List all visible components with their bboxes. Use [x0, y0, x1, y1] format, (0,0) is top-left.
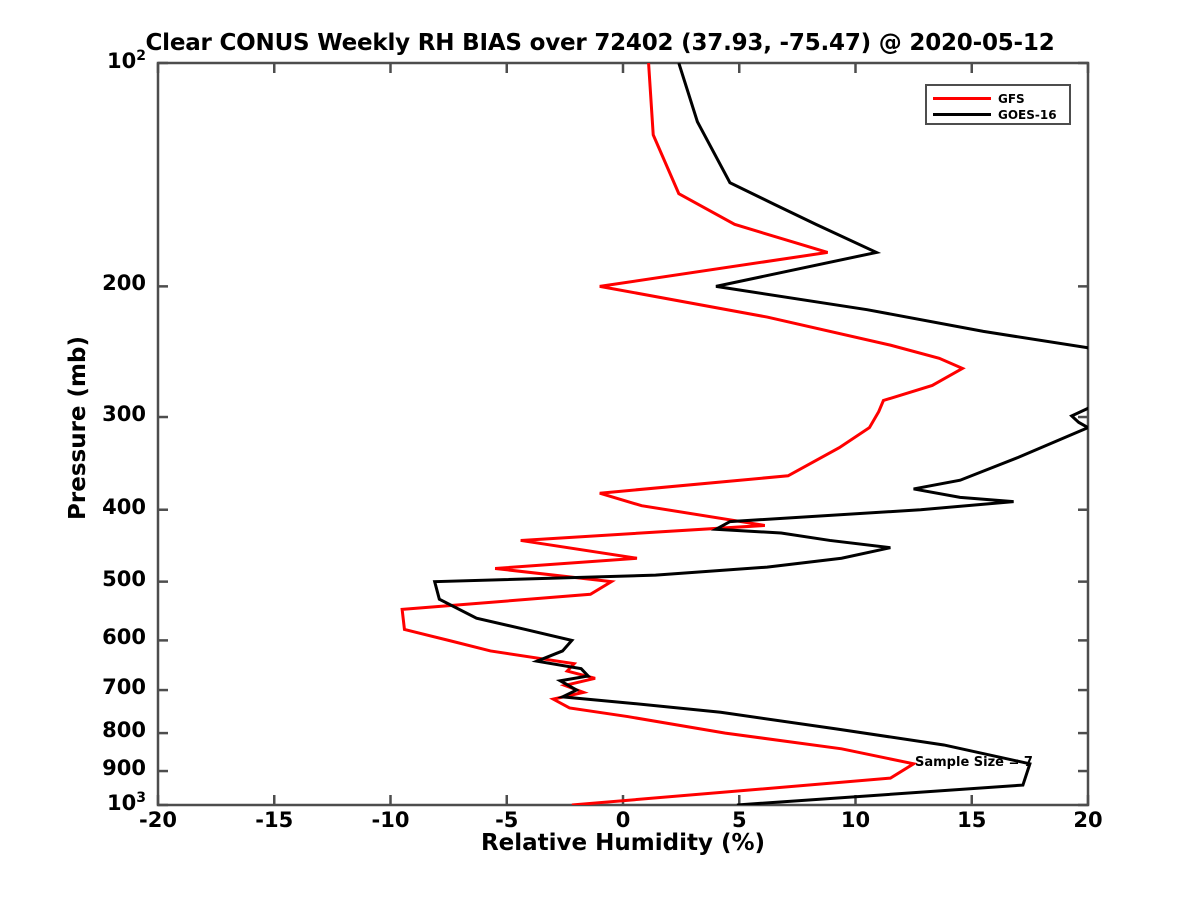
axis-tick-marks: [158, 63, 1088, 805]
data-series-layer: [402, 63, 1134, 805]
series-goes-16: [435, 63, 1135, 805]
legend-entry-goes16: GOES-16: [933, 107, 1063, 122]
legend-label-gfs: GFS: [998, 93, 1025, 105]
legend-swatch-goes16: [933, 113, 991, 116]
sample-size-annotation: Sample Size = 7: [915, 755, 1033, 770]
legend-swatch-gfs: [933, 97, 991, 100]
axes-frame: [158, 63, 1088, 805]
series-gfs: [402, 63, 962, 805]
legend-label-goes16: GOES-16: [998, 109, 1057, 121]
legend-entry-gfs: GFS: [933, 91, 1063, 106]
chart-canvas: Clear CONUS Weekly RH BIAS over 72402 (3…: [0, 0, 1200, 900]
legend-box: GFS GOES-16: [925, 84, 1071, 125]
